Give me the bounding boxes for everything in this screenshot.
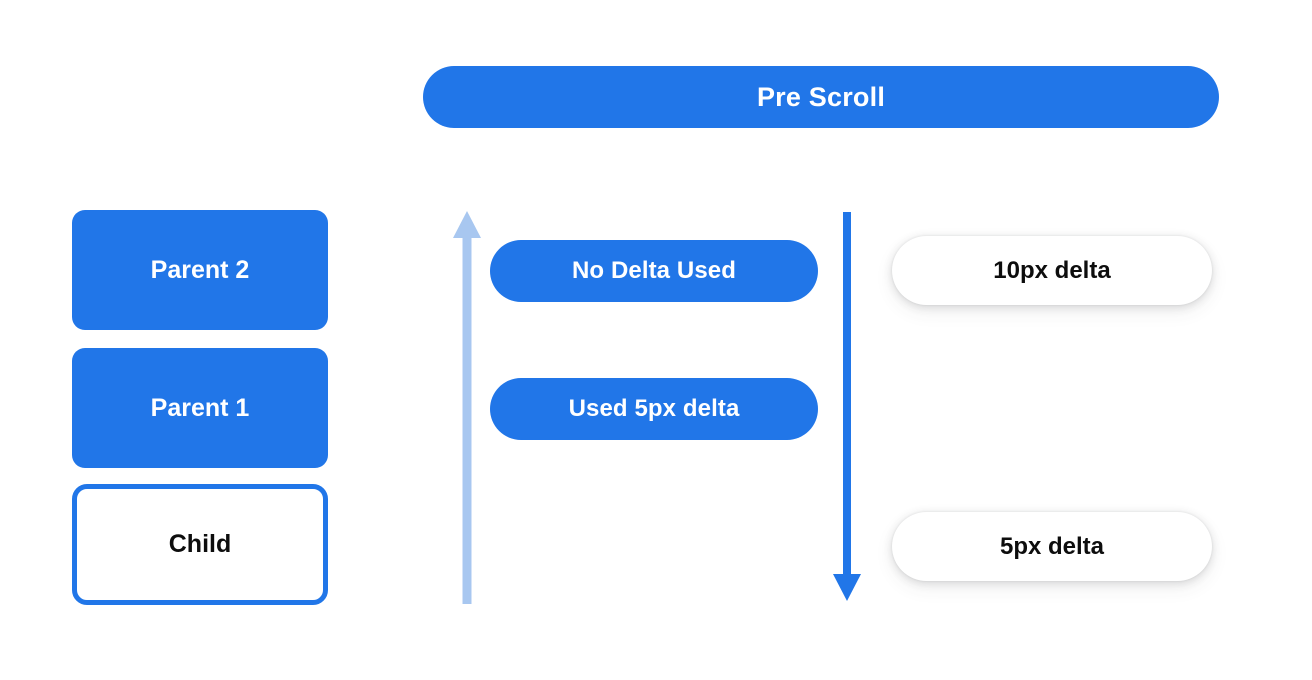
pre-scroll-header-bar: Pre Scroll [423,66,1219,128]
pill-no-delta-used: No Delta Used [490,240,818,302]
node-box-child: Child [72,484,328,605]
pill-5px-delta-label: 5px delta [1000,535,1104,559]
stack-spacer-2 [72,468,328,484]
node-box-child-label: Child [169,532,232,557]
node-box-parent-1-label: Parent 1 [151,396,250,421]
node-stack: Parent 2 Parent 1 Child [72,210,328,605]
down-arrow-icon [827,208,867,604]
pill-10px-delta: 10px delta [892,236,1212,305]
up-arrow-icon [447,208,487,604]
pill-used-5px-delta: Used 5px delta [490,378,818,440]
pill-no-delta-used-label: No Delta Used [572,259,736,283]
node-box-parent-2: Parent 2 [72,210,328,330]
pre-scroll-header-label: Pre Scroll [757,84,885,111]
node-box-parent-2-label: Parent 2 [151,258,250,283]
diagram-canvas: Pre Scroll Parent 2 Parent 1 Child No De… [0,0,1312,680]
node-box-parent-1: Parent 1 [72,348,328,468]
pill-10px-delta-label: 10px delta [993,259,1110,283]
pill-5px-delta: 5px delta [892,512,1212,581]
stack-spacer-1 [72,330,328,348]
pill-used-5px-delta-label: Used 5px delta [569,397,740,421]
